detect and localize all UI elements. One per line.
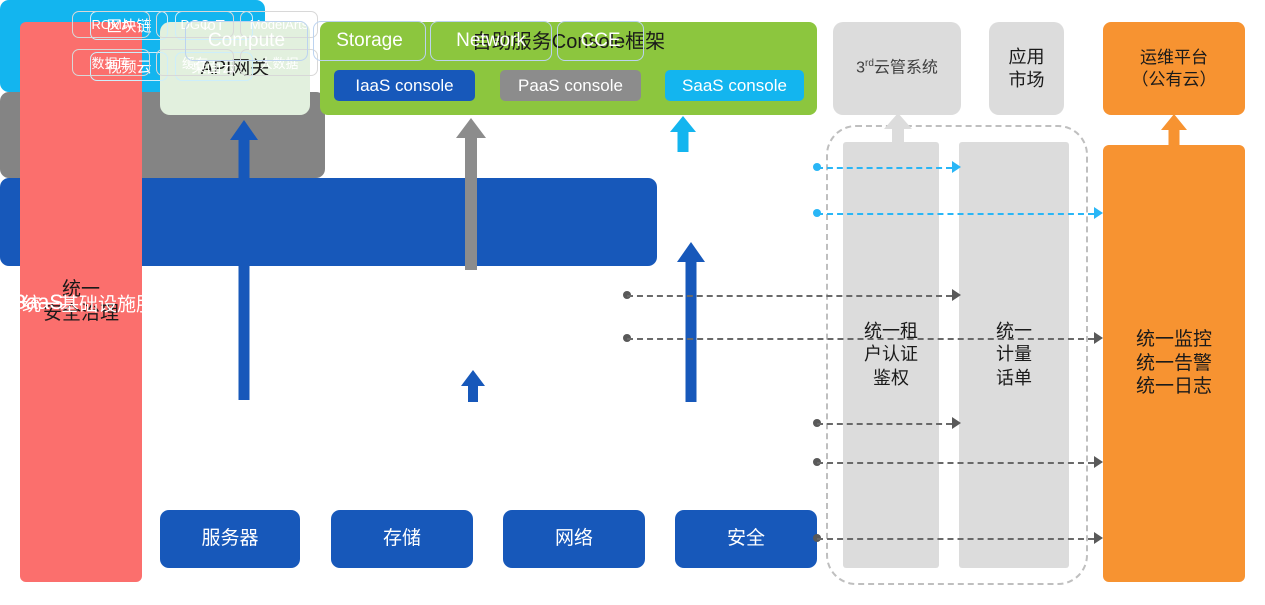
app-market-label: 应用 市场 <box>1009 46 1045 91</box>
dashed-saas-to-ops <box>817 213 1094 215</box>
arrowhead-iaas-to-billing <box>952 417 961 429</box>
infra-box-network: 网络 <box>503 510 645 568</box>
unified-tenant-auth-label: 统一租 户认证 鉴权 <box>864 320 918 390</box>
dashed-iaas-to-ops <box>817 462 1094 464</box>
unified-ops-panel: 统一监控 统一告警 统一日志 <box>1103 145 1245 582</box>
ops-platform-label: 运维平台 （公有云） <box>1132 47 1217 90</box>
infra-server-label: 服务器 <box>201 527 258 551</box>
unified-ops-label: 统一监控 统一告警 统一日志 <box>1136 328 1212 399</box>
dashed-iaas-to-billing <box>817 423 952 425</box>
paas-chip-database[interactable]: 数据库 <box>72 49 150 76</box>
iaas-console-chip[interactable]: IaaS console <box>334 70 475 101</box>
infra-box-storage: 存储 <box>331 510 473 568</box>
arrow-saas-to-console <box>669 116 696 152</box>
infra-box-server: 服务器 <box>160 510 300 568</box>
arrowhead-paas-to-ops <box>1094 332 1103 344</box>
iaas-chip-network[interactable]: Network <box>430 21 552 61</box>
saas-console-chip[interactable]: SaaS console <box>665 70 804 101</box>
infra-network-label: 网络 <box>555 527 593 551</box>
arrowhead-saas-to-billing <box>952 161 961 173</box>
unified-tenant-auth-column: 统一租 户认证 鉴权 <box>843 142 939 568</box>
dashed-paas-to-auth <box>627 295 952 297</box>
arrow-iaas-to-saas <box>677 242 705 402</box>
infra-box-security: 安全 <box>675 510 817 568</box>
arrow-api-gateway-to-iaas <box>230 120 258 400</box>
third-party-label: 3rd云管系统 <box>856 58 938 78</box>
arrowhead-iaas-to-ops <box>1094 456 1103 468</box>
arrow-iaas-to-paas <box>461 370 485 402</box>
iaas-chip-cce[interactable]: CCE <box>557 21 644 61</box>
arrowhead-infra-to-ops <box>1094 532 1103 544</box>
app-market-box: 应用 市场 <box>989 22 1064 115</box>
arrowhead-paas-to-auth <box>952 289 961 301</box>
iaas-bar-label: 统一基础设施服务 <box>22 289 174 316</box>
infra-security-label: 安全 <box>727 527 765 551</box>
unified-billing-column: 统一 计量 话单 <box>959 142 1069 568</box>
iaas-chip-compute[interactable]: Compute <box>185 21 308 61</box>
ops-platform-box: 运维平台 （公有云） <box>1103 22 1245 115</box>
third-party-cloud-mgmt-box: 3rd云管系统 <box>833 22 961 115</box>
arrowhead-saas-to-ops <box>1094 207 1103 219</box>
infra-storage-label: 存储 <box>383 527 421 551</box>
dashed-infra-to-ops <box>817 538 1094 540</box>
paas-console-chip[interactable]: PaaS console <box>500 70 641 101</box>
arrow-ops-panel-to-ops-platform <box>1161 114 1187 146</box>
paas-chip-roma[interactable]: ROMA <box>72 11 150 38</box>
architecture-diagram: 统一 安全治理 API网关 自助服务Console框架 IaaS console… <box>0 0 1265 605</box>
arrow-paas-to-console <box>456 118 486 270</box>
unified-billing-label: 统一 计量 话单 <box>996 320 1032 390</box>
arrow-auth-to-third-party <box>884 113 912 143</box>
dashed-paas-to-ops <box>627 338 1094 340</box>
dashed-saas-to-billing <box>817 167 952 169</box>
iaas-chip-storage[interactable]: Storage <box>313 21 426 61</box>
